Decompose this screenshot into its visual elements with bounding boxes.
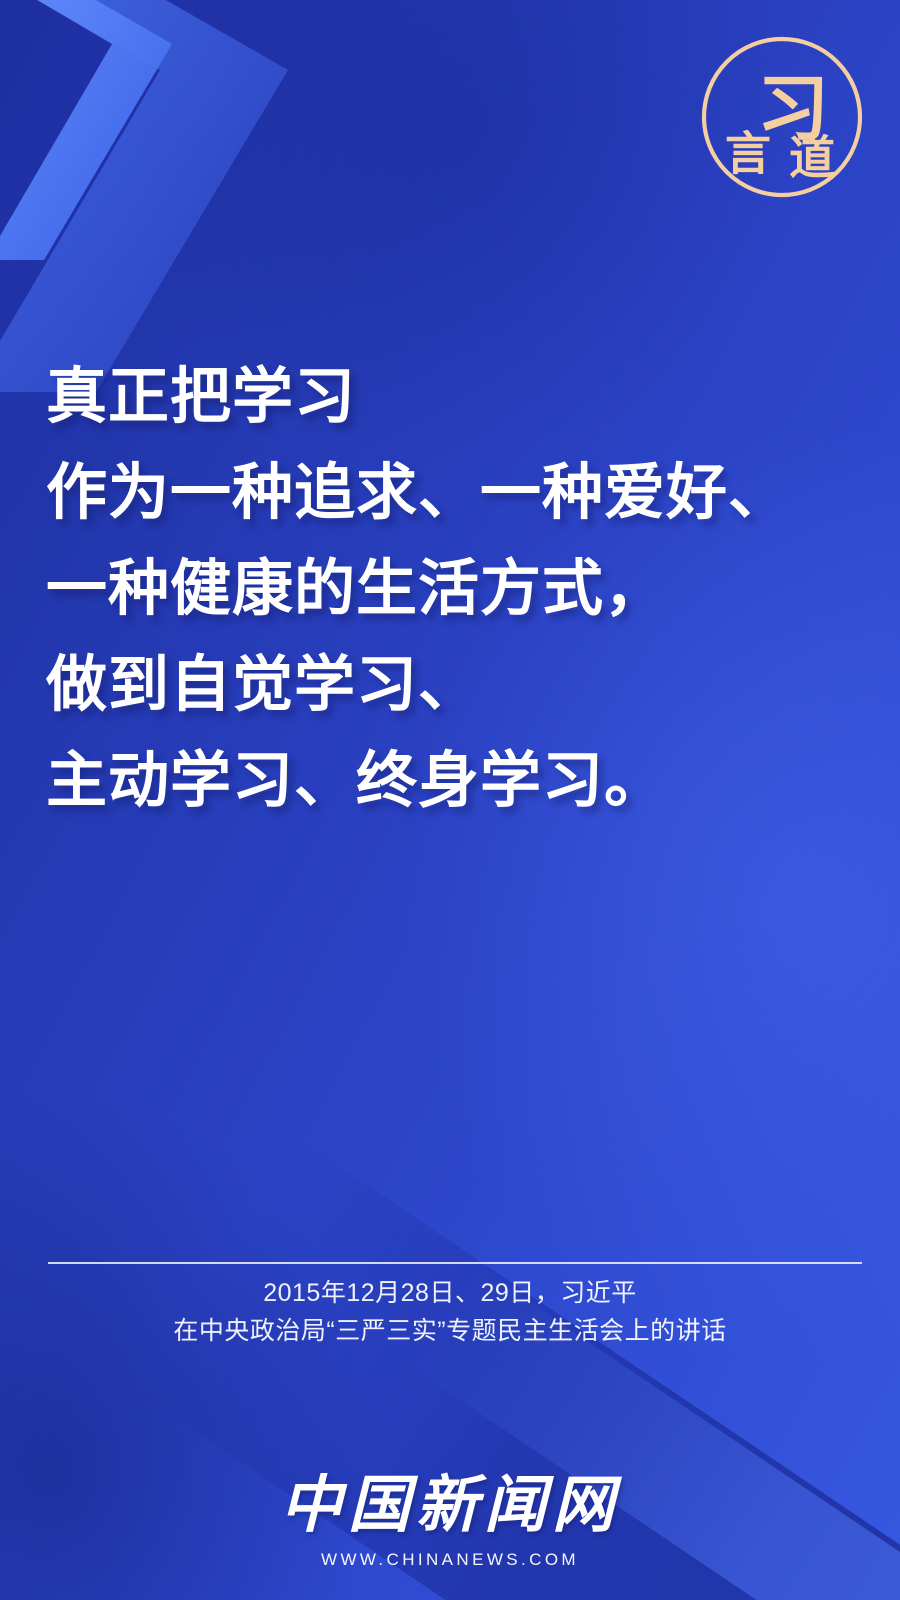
divider-line xyxy=(48,1262,862,1264)
attribution-source: 在中央政治局“三严三实”专题民主生活会上的讲话 xyxy=(0,1312,900,1350)
attribution-date: 2015年12月28日、29日，习近平 xyxy=(0,1274,900,1312)
attribution-block: 2015年12月28日、29日，习近平 在中央政治局“三严三实”专题民主生活会上… xyxy=(0,1274,900,1350)
quote-line: 做到自觉学习、 xyxy=(46,636,866,732)
poster-canvas: 习 言 道 真正把学习 作为一种追求、一种爱好、 一种健康的生活方式， 做到自觉… xyxy=(0,0,900,1600)
seal-logo: 习 言 道 xyxy=(698,33,866,201)
quote-line: 主动学习、终身学习。 xyxy=(46,732,866,828)
chinanews-url: WWW.CHINANEWS.COM xyxy=(0,1550,900,1570)
chevron-decoration xyxy=(0,0,420,400)
quote-line: 作为一种追求、一种爱好、 xyxy=(46,444,866,540)
quote-line: 真正把学习 xyxy=(46,348,866,444)
seal-char-dao: 道 xyxy=(789,133,835,184)
seal-char-yan: 言 xyxy=(725,129,771,180)
footer-block: 中国新闻网 WWW.CHINANEWS.COM xyxy=(0,1470,900,1570)
chinanews-wordmark: 中国新闻网 xyxy=(0,1470,900,1542)
quote-block: 真正把学习 作为一种追求、一种爱好、 一种健康的生活方式， 做到自觉学习、 主动… xyxy=(46,348,866,828)
quote-line: 一种健康的生活方式， xyxy=(46,540,866,636)
